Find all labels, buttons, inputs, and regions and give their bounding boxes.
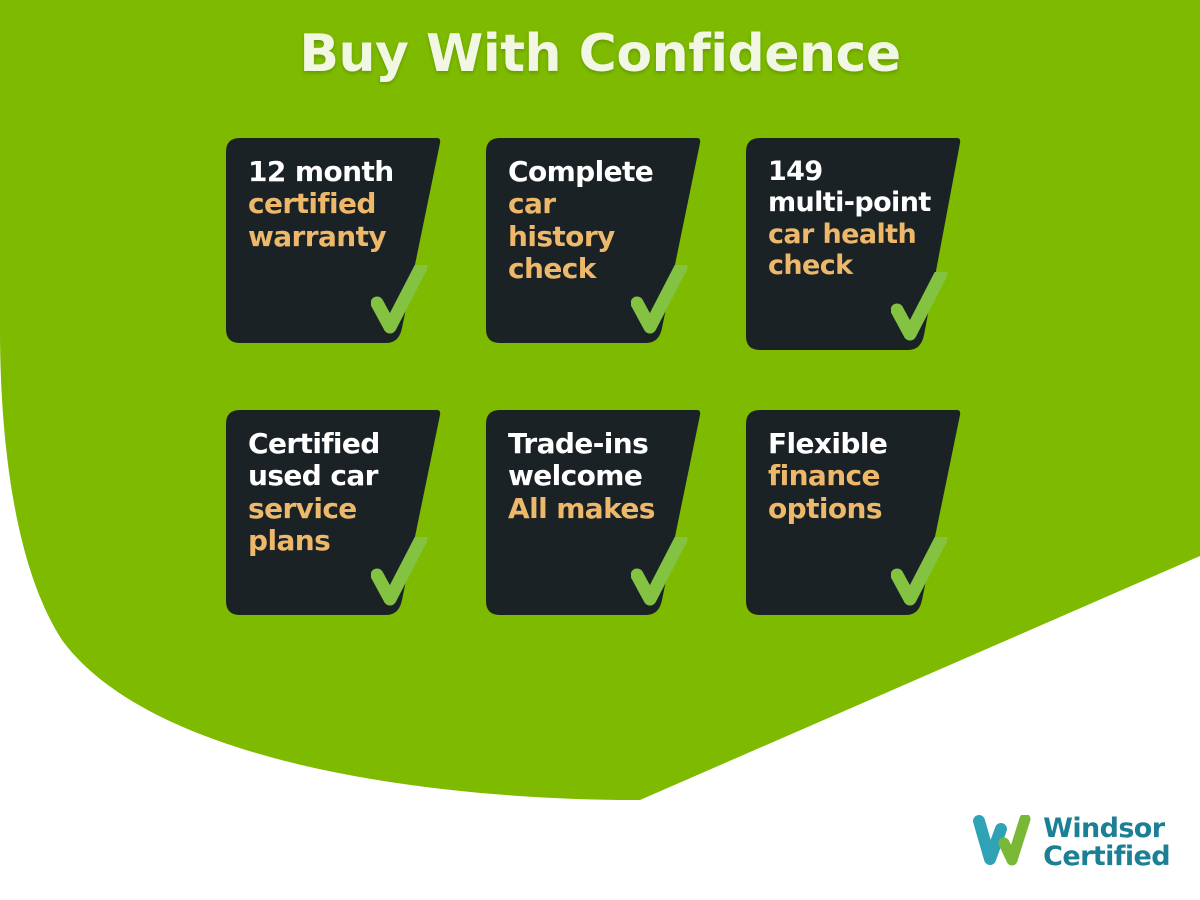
- card-line-white: multi-point: [768, 187, 931, 218]
- benefit-card-finance[interactable]: Flexible finance options: [746, 410, 961, 615]
- card-text: Trade-ins welcome All makes: [508, 428, 671, 525]
- windsor-w-icon: [971, 815, 1033, 871]
- brand-logo-line-2: Certified: [1043, 843, 1170, 872]
- brand-logo: Windsor Certified: [971, 815, 1170, 872]
- card-line-gold: certified: [248, 188, 411, 220]
- card-line-white: 12 month: [248, 156, 411, 188]
- card-line-white: welcome: [508, 460, 671, 492]
- check-icon: [631, 265, 689, 339]
- card-text: 149 multi-point car health check: [768, 156, 931, 281]
- card-line-gold: finance: [768, 460, 931, 492]
- benefit-card-grid: 12 month certified warranty: [226, 138, 986, 615]
- benefit-card-row-top: 12 month certified warranty: [226, 138, 986, 350]
- card-line-white: Trade-ins: [508, 428, 671, 460]
- benefit-card-warranty[interactable]: 12 month certified warranty: [226, 138, 441, 343]
- card-line-gold: All makes: [508, 493, 671, 525]
- benefit-card-row-bottom: Certified used car service plans: [226, 410, 986, 615]
- promo-graphic: Buy With Confidence 12 month certified w…: [0, 0, 1200, 900]
- card-line-gold: service: [248, 493, 411, 525]
- check-icon: [891, 537, 949, 611]
- card-line-gold: warranty: [248, 221, 411, 253]
- card-line-white: 149: [768, 156, 931, 187]
- card-line-gold: car health: [768, 219, 931, 250]
- card-line-white: used car: [248, 460, 411, 492]
- card-line-gold: options: [768, 493, 931, 525]
- brand-logo-line-1: Windsor: [1043, 815, 1170, 844]
- page-title: Buy With Confidence: [0, 24, 1200, 84]
- card-text: 12 month certified warranty: [248, 156, 411, 253]
- card-line-white: Flexible: [768, 428, 931, 460]
- check-icon: [371, 537, 429, 611]
- card-line-white: Certified: [248, 428, 411, 460]
- benefit-card-service-plans[interactable]: Certified used car service plans: [226, 410, 441, 615]
- card-text: Flexible finance options: [768, 428, 931, 525]
- check-icon: [631, 537, 689, 611]
- benefit-card-health-check[interactable]: 149 multi-point car health check: [746, 138, 961, 350]
- check-icon: [891, 272, 949, 346]
- benefit-card-trade-ins[interactable]: Trade-ins welcome All makes: [486, 410, 701, 615]
- brand-logo-wordmark: Windsor Certified: [1043, 815, 1170, 872]
- card-line-gold: car history: [508, 188, 671, 253]
- check-icon: [371, 265, 429, 339]
- card-line-white: Complete: [508, 156, 671, 188]
- benefit-card-history-check[interactable]: Complete car history check: [486, 138, 701, 343]
